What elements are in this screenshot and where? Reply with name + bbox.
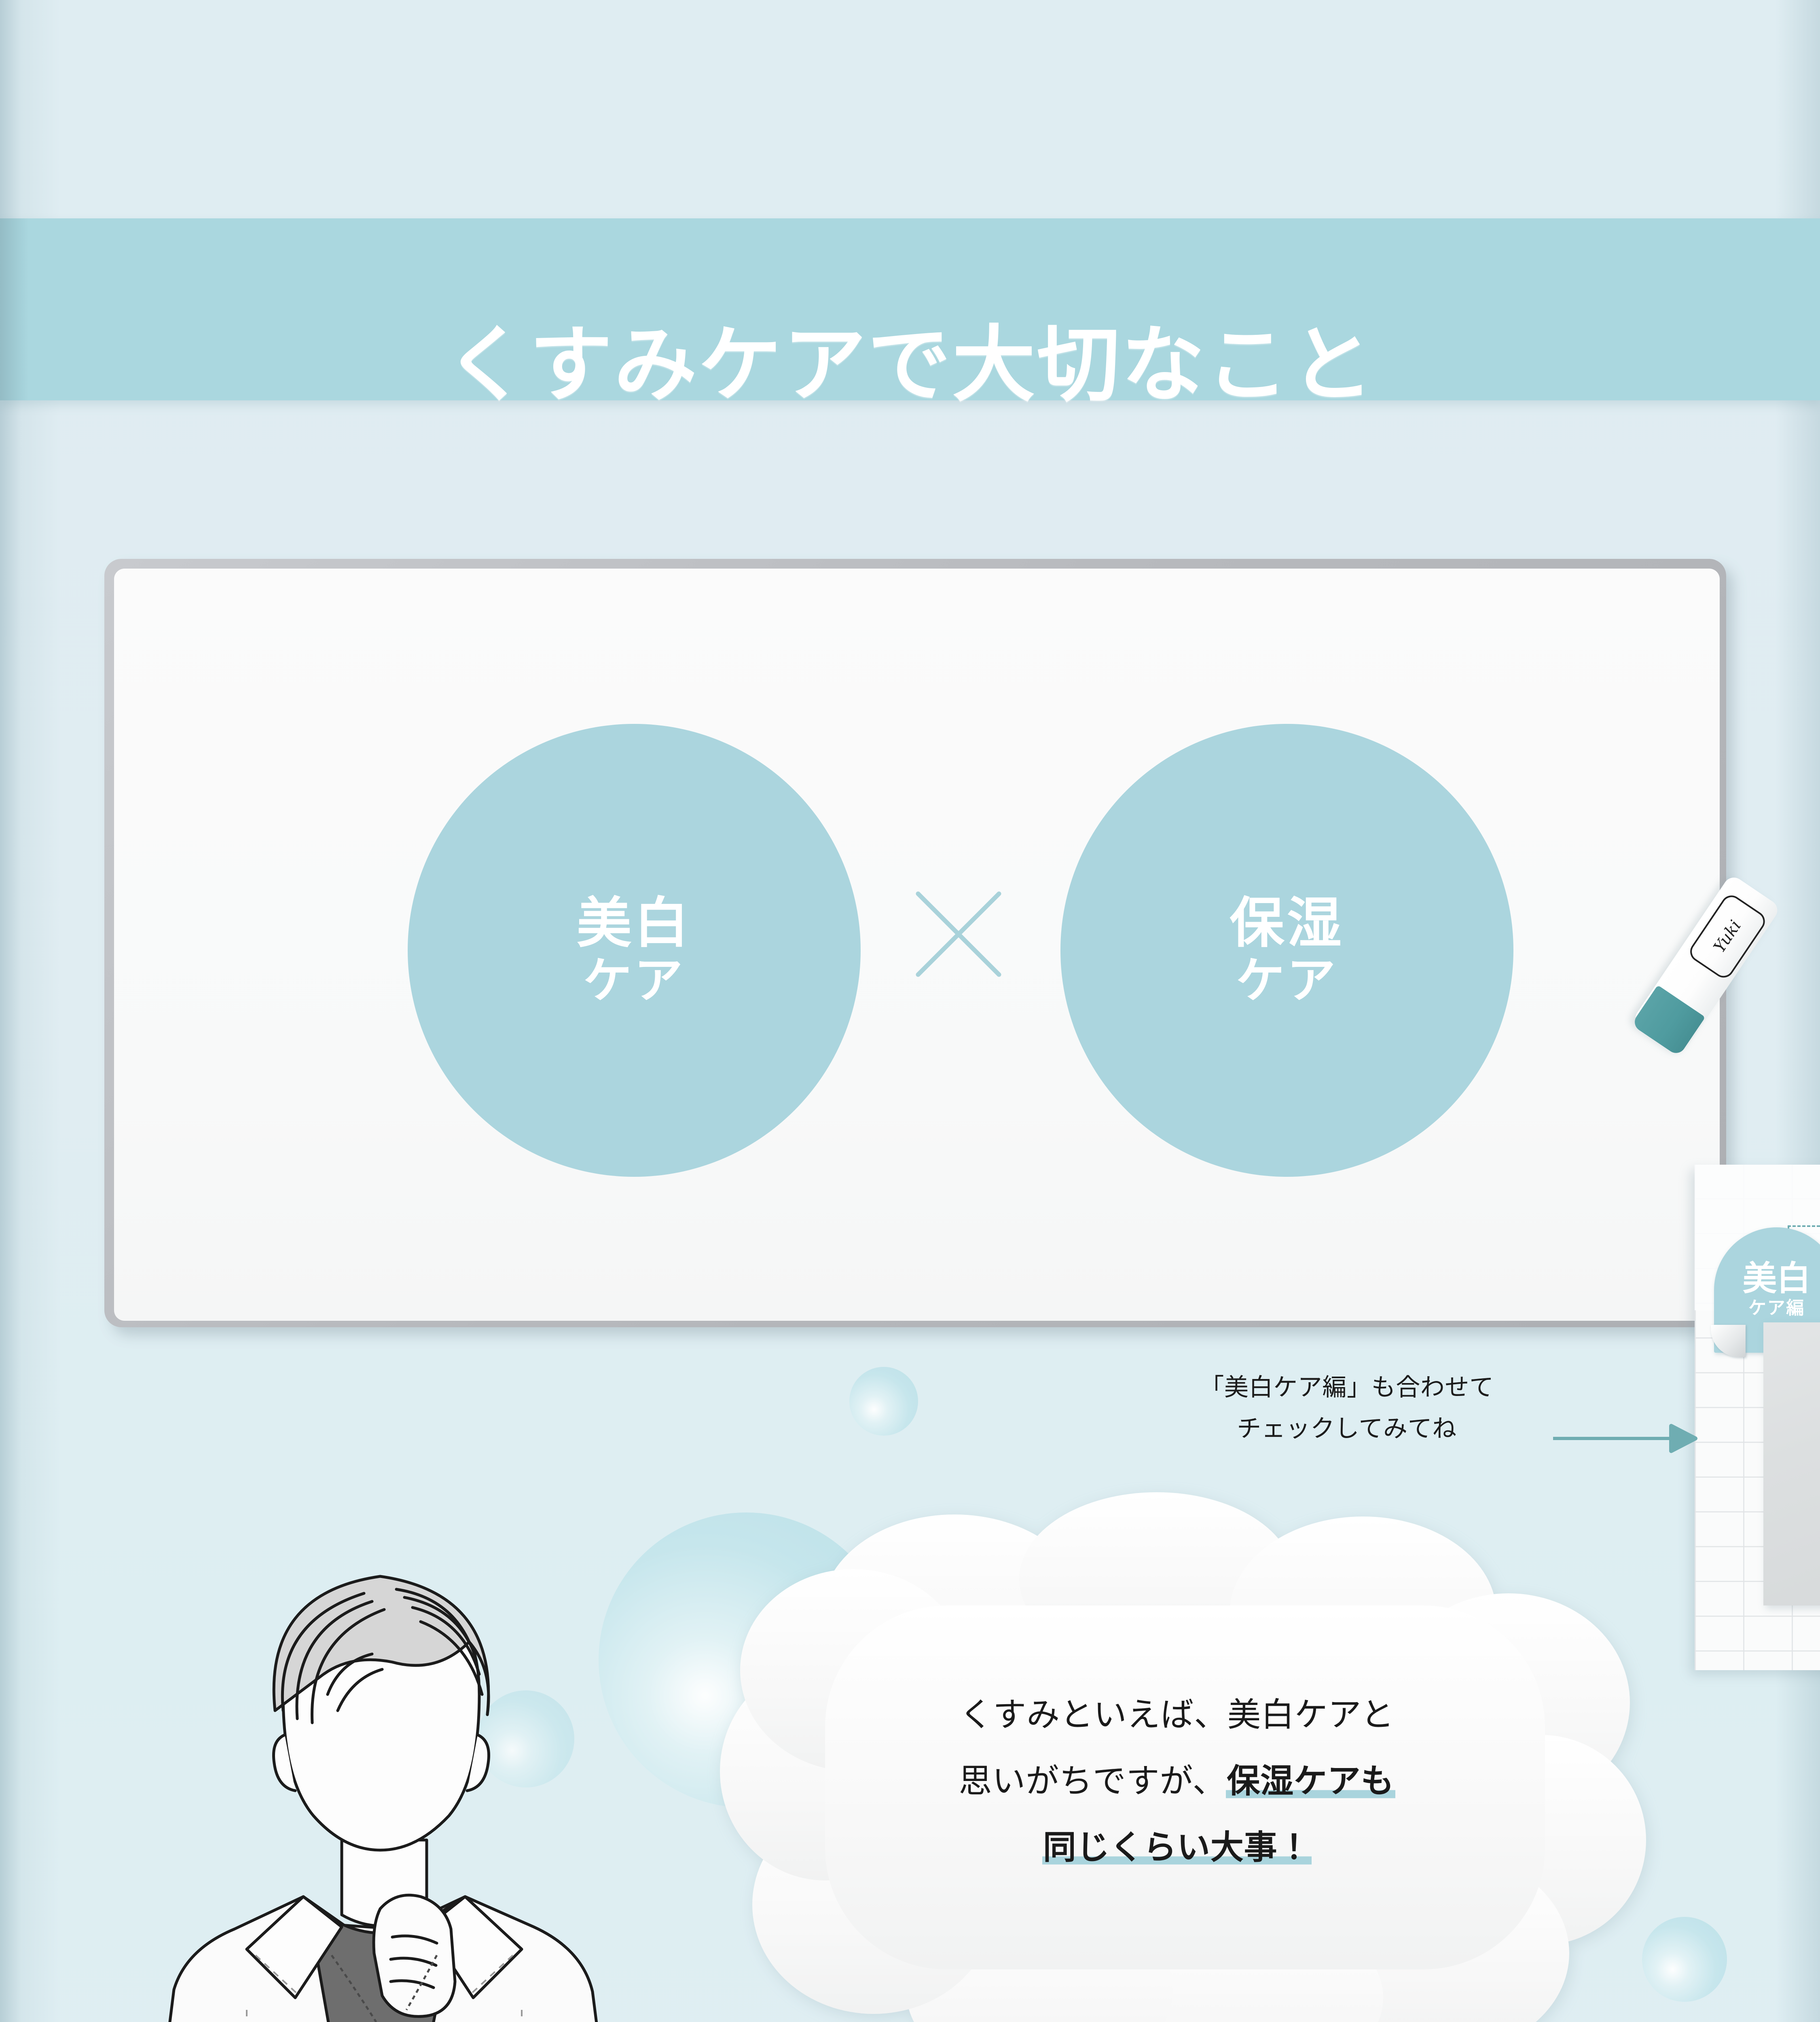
speech-line-2-plain: 思いがちですが、 xyxy=(959,1763,1226,1800)
arrow-right-icon xyxy=(1553,1420,1707,1457)
concept-circle-moisture-line1: 保湿 xyxy=(1230,893,1344,954)
badge-line2: ケア編 xyxy=(1748,1298,1805,1319)
badge-line1: 美白 xyxy=(1743,1261,1811,1295)
cross-reference-note: 「美白ケア編」も合わせて チェックしてみてね xyxy=(1084,1367,1610,1449)
poster-canvas: くすみケアで大切なこと 美白 ケア 保湿 ケア Yuki 「香 美白 ケア編 xyxy=(0,0,1820,2022)
marker-label-text: Yuki xyxy=(1710,917,1745,956)
related-article-card[interactable]: 「香 美白 ケア編 SKIN & LAB GLUTATHIONE AMPOULE… xyxy=(1695,1165,1820,1670)
doctor-illustration xyxy=(113,1521,639,2022)
page-title: くすみケアで大切なこと xyxy=(0,274,1820,456)
concept-circle-whitening: 美白 ケア xyxy=(408,724,861,1177)
concept-circle-whitening-line2: ケア xyxy=(583,954,685,1008)
concept-circle-moisture-line2: ケア xyxy=(1236,954,1338,1008)
speech-bubble-text: くすみといえば、美白ケアと 思いがちですが、保湿ケアも 同じくらい大事！ xyxy=(704,1492,1650,2022)
bubble-decoration xyxy=(849,1367,918,1436)
concept-circle-moisture: 保湿 ケア xyxy=(1060,724,1513,1177)
cross-reference-note-line2: チェックしてみてね xyxy=(1084,1408,1610,1449)
speech-line-2-highlight: 保湿ケアも xyxy=(1226,1763,1395,1800)
cross-reference-note-line1: 「美白ケア編」も合わせて xyxy=(1084,1367,1610,1408)
speech-line-2: 思いがちですが、保湿ケアも xyxy=(959,1748,1395,1815)
speech-line-3: 同じくらい大事！ xyxy=(1042,1815,1312,1881)
speech-line-1: くすみといえば、美白ケアと xyxy=(959,1682,1394,1748)
multiply-icon xyxy=(906,882,1011,987)
background-top-strip xyxy=(0,0,1820,218)
concept-circle-whitening-line1: 美白 xyxy=(577,893,692,954)
product-photo: SKIN & LAB GLUTATHIONE AMPOULE TONER xyxy=(1763,1322,1820,1605)
speech-line-3-highlight: 同じくらい大事！ xyxy=(1042,1829,1312,1866)
bubble-decoration xyxy=(1642,1917,1727,2002)
